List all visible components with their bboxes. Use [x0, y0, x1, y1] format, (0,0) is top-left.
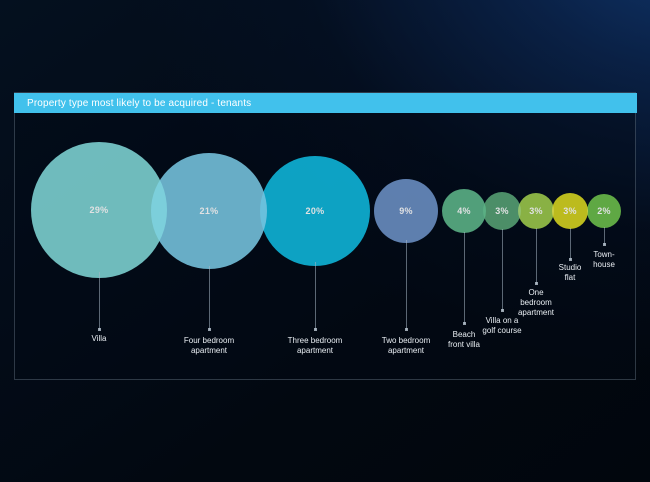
bubble-value-label: 29% [90, 205, 109, 215]
bubble-3[interactable]: 9% [374, 179, 438, 243]
bubble-8[interactable]: 2% [587, 194, 621, 228]
leader-line [209, 266, 210, 330]
bubble-6[interactable]: 3% [518, 193, 554, 229]
bubble-1[interactable]: 21% [151, 153, 267, 269]
bubble-0[interactable]: 29% [31, 142, 167, 278]
leader-line [502, 229, 503, 311]
bubble-7[interactable]: 3% [552, 193, 588, 229]
category-label: Town- house [593, 250, 615, 270]
infographic-canvas: Property type most likely to be acquired… [0, 0, 650, 482]
category-label: Beach front villa [448, 330, 480, 350]
leader-line [99, 272, 100, 330]
category-label: Villa on a golf course [482, 316, 521, 336]
category-label: Two bedroom apartment [382, 336, 430, 356]
bubble-value-label: 9% [399, 206, 413, 216]
bubble-value-label: 3% [563, 206, 577, 216]
category-label: Studio flat [559, 263, 582, 283]
bubble-5[interactable]: 3% [483, 192, 521, 230]
leader-line [536, 228, 537, 284]
category-label: Villa [92, 334, 107, 344]
category-label: One bedroom apartment [518, 288, 554, 318]
category-label: Four bedroom apartment [184, 336, 234, 356]
bubble-value-label: 20% [306, 206, 325, 216]
bubble-value-label: 4% [457, 206, 471, 216]
leader-line [570, 228, 571, 260]
bubble-2[interactable]: 20% [260, 156, 370, 266]
bubble-value-label: 21% [200, 206, 219, 216]
bubble-value-label: 2% [597, 206, 611, 216]
leader-line [604, 227, 605, 245]
bubble-value-label: 3% [495, 206, 509, 216]
leader-line [464, 232, 465, 324]
bubble-chart: 29%21%20%9%4%3%3%3%2% [0, 0, 650, 482]
leader-line [406, 240, 407, 330]
bubble-4[interactable]: 4% [442, 189, 486, 233]
leader-line [315, 262, 316, 330]
category-label: Three bedroom apartment [288, 336, 343, 356]
bubble-value-label: 3% [529, 206, 543, 216]
